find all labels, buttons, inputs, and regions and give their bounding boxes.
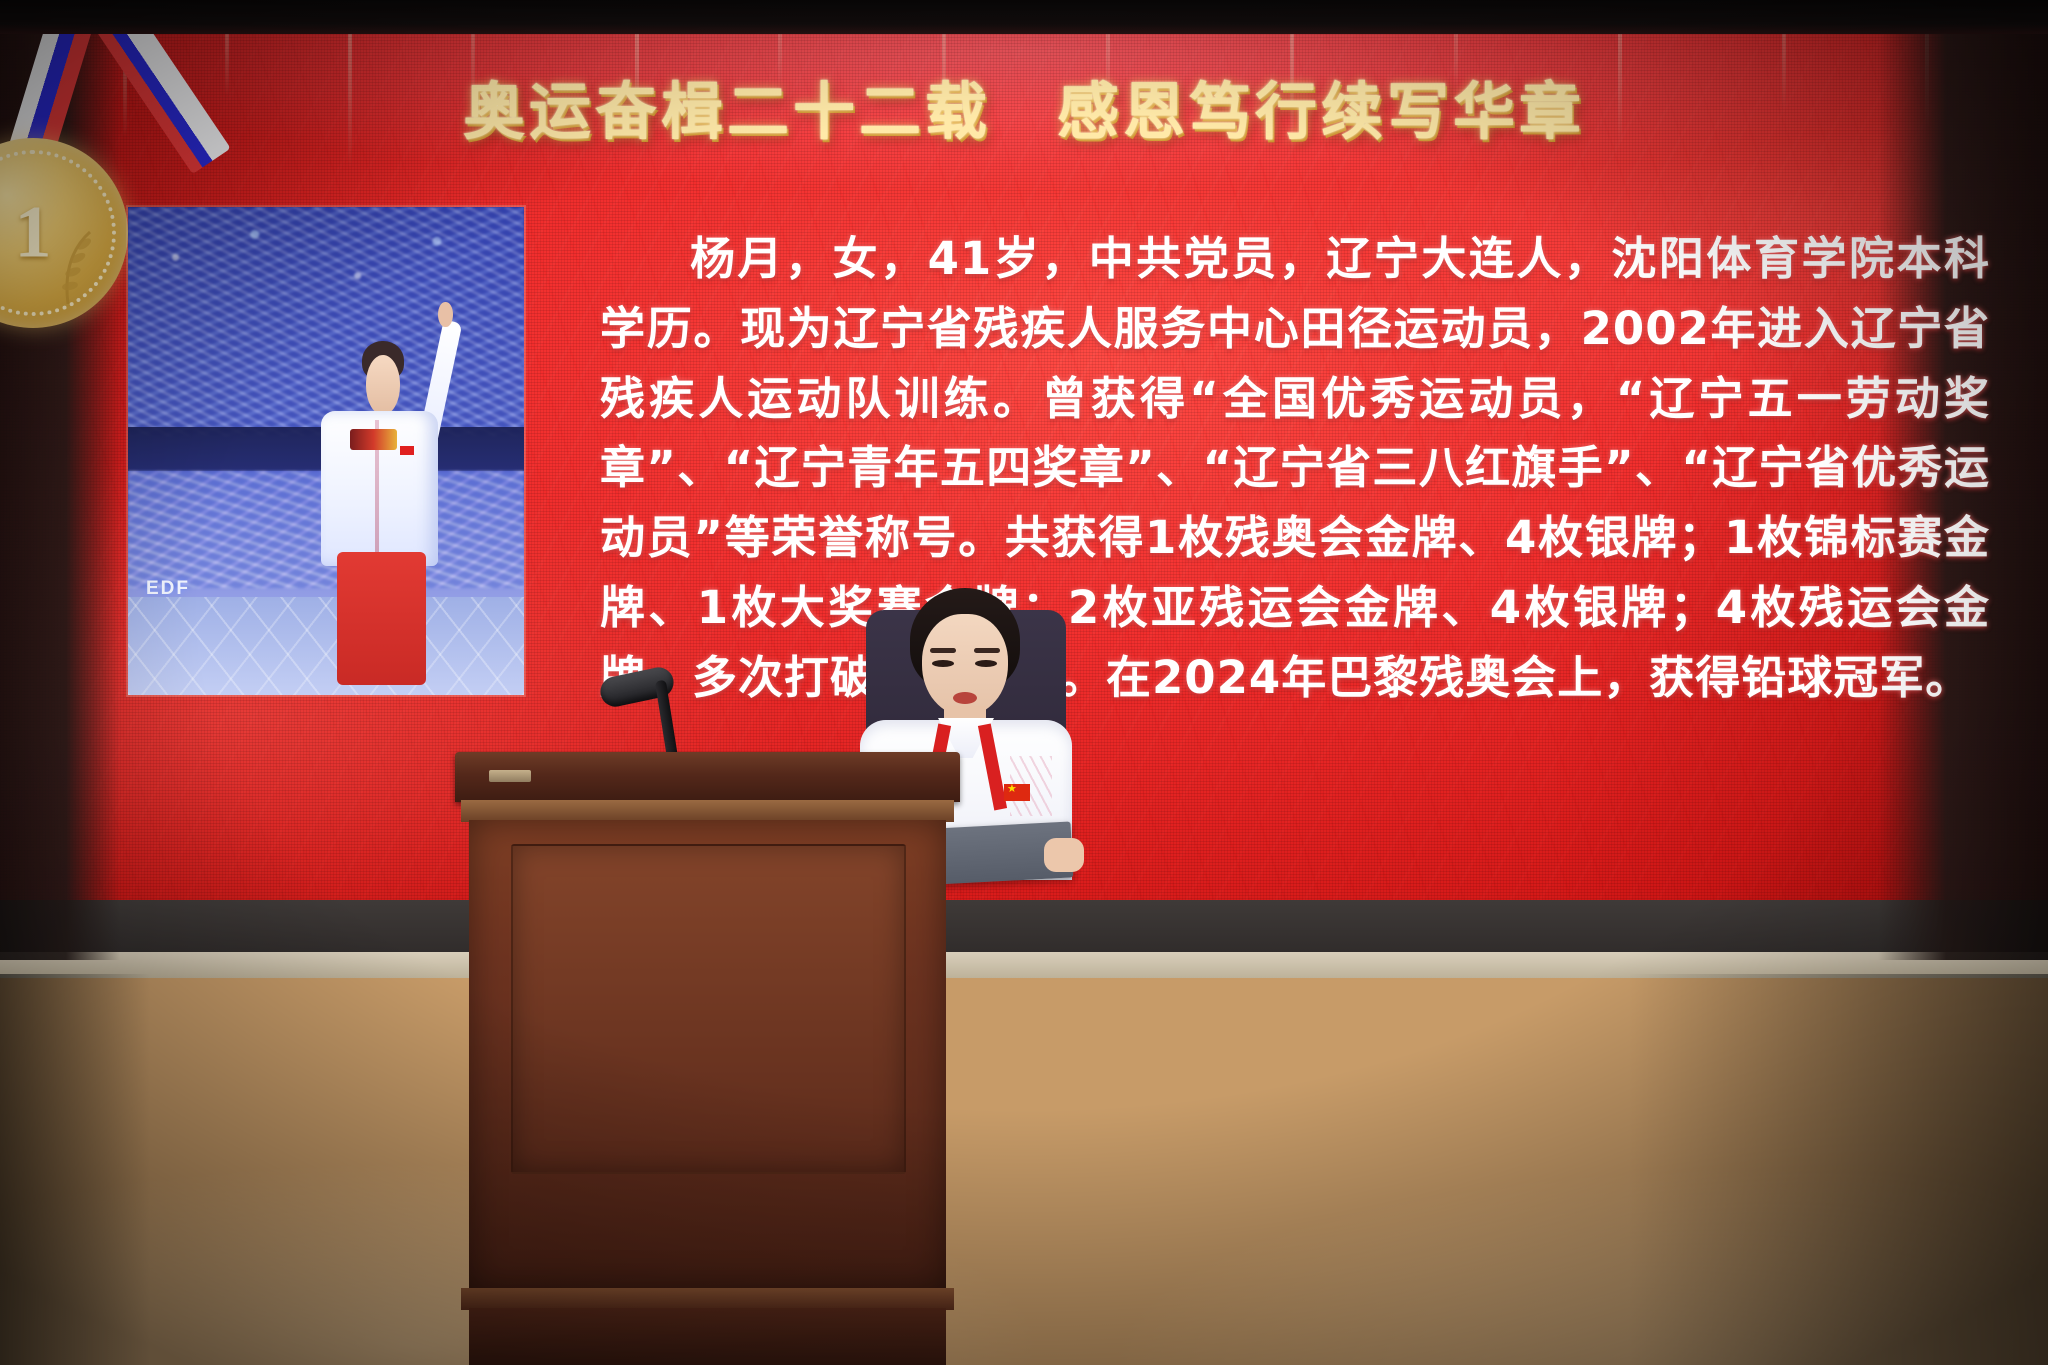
speaker-eye-right — [975, 660, 997, 667]
photo-china-flag-patch — [400, 446, 414, 455]
floor-shadow-left — [0, 974, 150, 1365]
medal-disc: 1 — [0, 138, 128, 328]
wooden-lectern — [455, 752, 960, 1365]
inset-athlete-photo: EDF 2024 — [128, 207, 524, 695]
lectern-front-panel — [511, 844, 906, 1174]
speaker-mouth — [953, 692, 977, 704]
speaker-hand-right — [1044, 838, 1084, 872]
ceiling-strip — [0, 0, 2048, 34]
speaker-eye-left — [932, 660, 954, 667]
lectern-body — [469, 820, 946, 1290]
lectern-lip — [461, 800, 954, 822]
lectern-foot — [469, 1308, 946, 1365]
laurel-icon — [46, 226, 110, 312]
page-title: 奥运奋楫二十二载 感恩笃行续写华章 — [0, 78, 2048, 146]
photo-gold-medal — [350, 429, 398, 450]
photo-athlete-figure — [302, 334, 460, 685]
lower-wall-band — [0, 900, 2048, 958]
floor-shadow-right — [1628, 974, 2048, 1365]
ceremony-stage-photo: 1 奥运奋楫二十二载 感恩笃行续写华章 EDF 2024 — [0, 0, 2048, 1365]
photo-raised-fist — [438, 302, 452, 327]
photo-athlete-head — [366, 355, 401, 415]
speaker-eyebrow-left — [930, 648, 956, 653]
lectern-name-plate — [489, 770, 531, 782]
lectern-base-trim — [461, 1288, 954, 1310]
china-flag-patch — [1004, 784, 1030, 801]
lectern-top-surface — [455, 752, 960, 802]
photo-red-trousers — [337, 552, 426, 686]
athlete-bio-text: 杨月，女，41岁，中共党员，辽宁大连人，沈阳体育学院本科学历。现为辽宁省残疾人服… — [600, 224, 1990, 712]
speaker-eyebrow-right — [974, 648, 1000, 653]
